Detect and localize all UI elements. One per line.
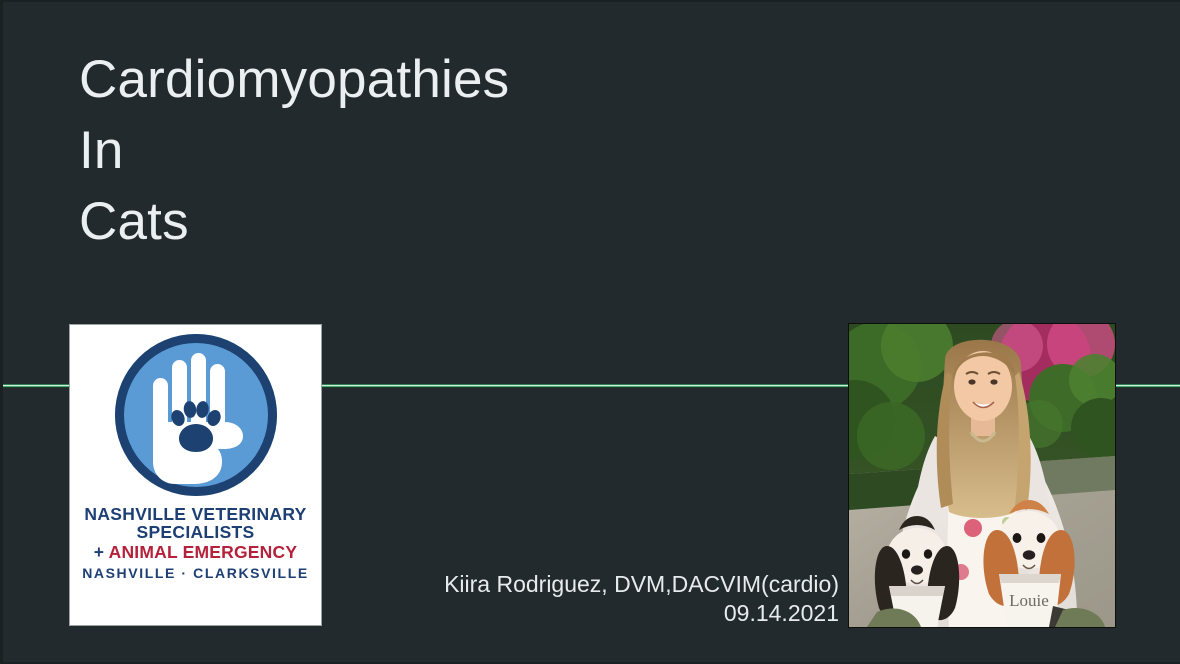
presenter-photo: Louie <box>849 324 1115 627</box>
logo-circle-badge <box>115 334 277 496</box>
logo-line-4: NASHVILLE · CLARKSVILLE <box>70 566 321 580</box>
title-line-3: Cats <box>79 186 719 257</box>
presenter-name: Kiira Rodriguez, DVM,DACVIM(cardio) <box>383 570 839 599</box>
logo-plus-sign: + <box>94 542 104 562</box>
presentation-date: 09.14.2021 <box>383 599 839 628</box>
title-line-1: Cardiomyopathies <box>79 44 719 115</box>
title-line-2: In <box>79 115 719 186</box>
photo-illustration: Louie <box>849 324 1115 627</box>
logo-wordmark: NASHVILLE VETERINARY SPECIALISTS + ANIMA… <box>70 506 321 580</box>
logo-line-3: + ANIMAL EMERGENCY <box>70 544 321 562</box>
paw-print-icon <box>168 398 224 454</box>
page-title: Cardiomyopathies In Cats <box>79 44 719 257</box>
presenter-credit: Kiira Rodriguez, DVM,DACVIM(cardio) 09.1… <box>383 570 839 628</box>
logo-line-3-text: ANIMAL EMERGENCY <box>109 542 298 562</box>
logo-line-2: SPECIALISTS <box>70 524 321 542</box>
dog-bib-label: Louie <box>1009 591 1049 610</box>
organization-logo: NASHVILLE VETERINARY SPECIALISTS + ANIMA… <box>70 325 321 625</box>
presentation-slide: Cardiomyopathies In Cats <box>0 0 1180 664</box>
